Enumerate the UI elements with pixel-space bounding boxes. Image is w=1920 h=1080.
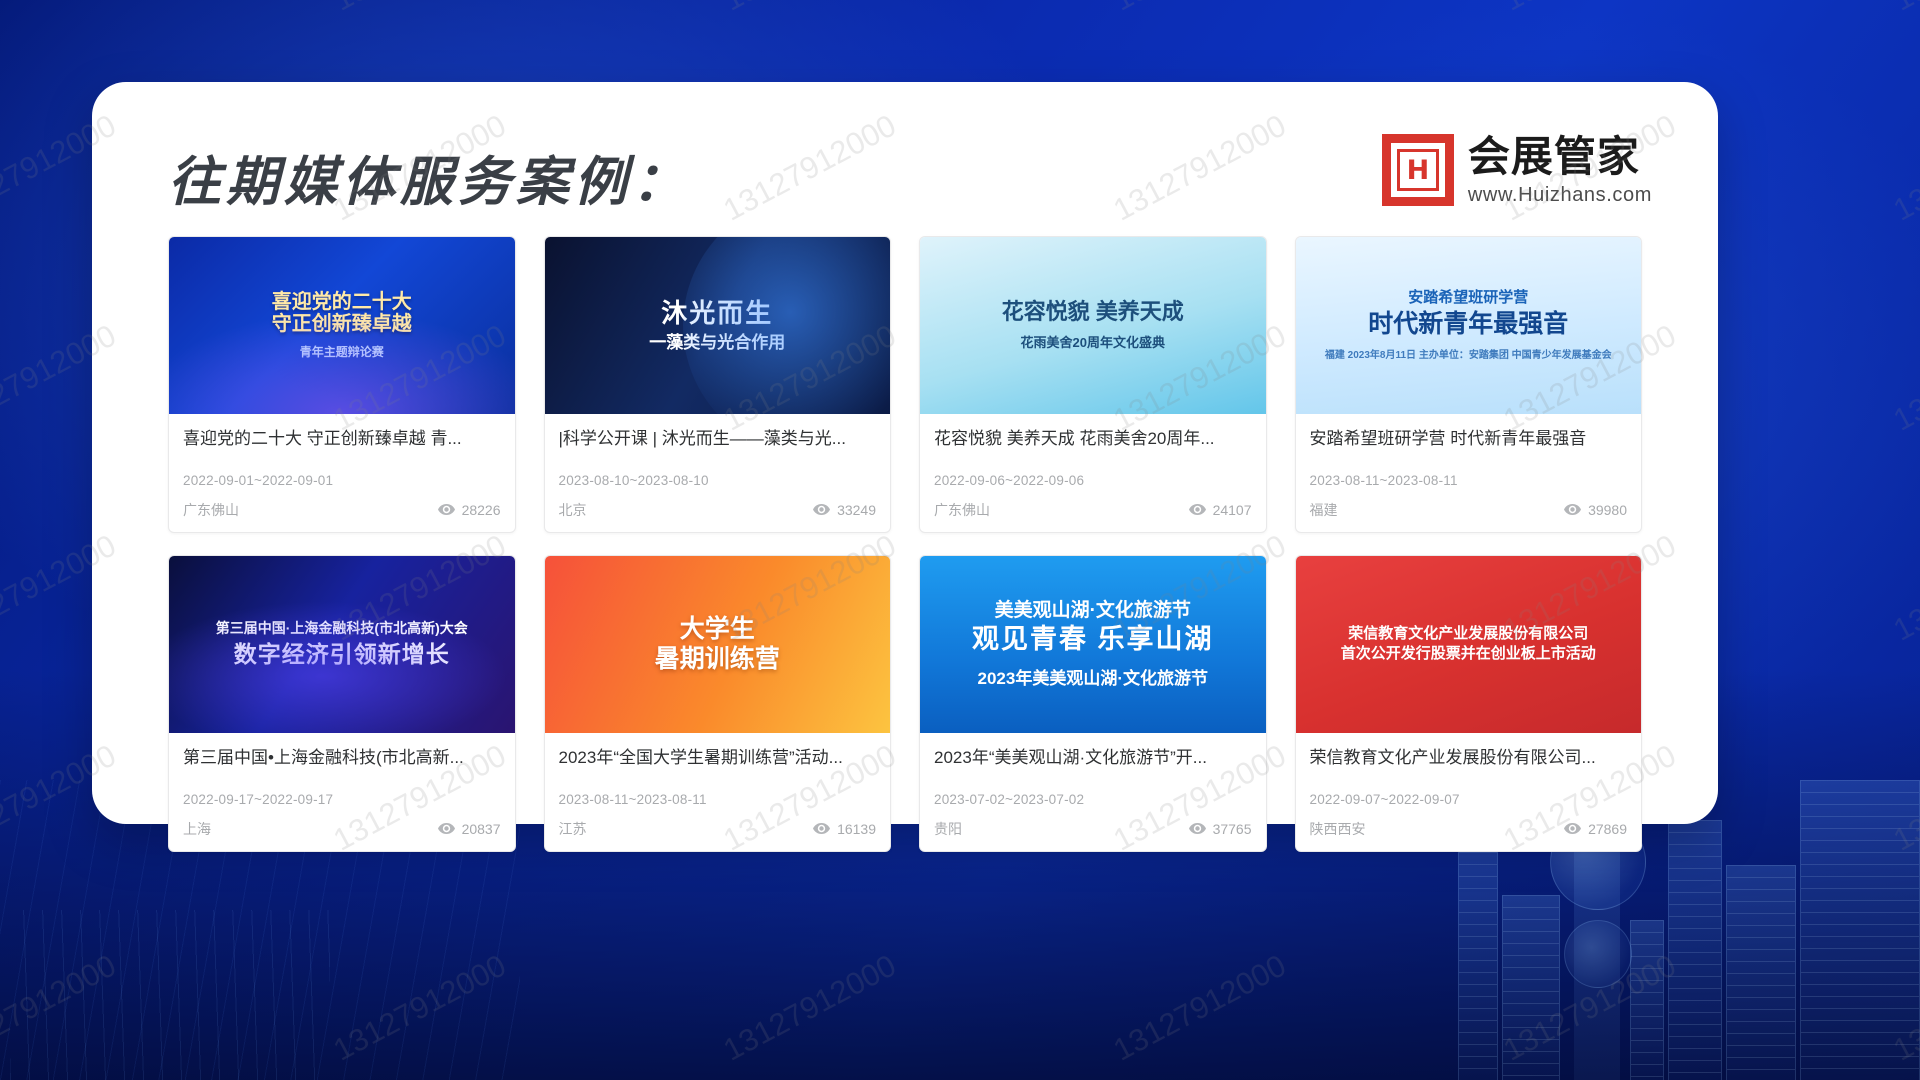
card-date-range: 2023-07-02~2023-07-02 — [934, 792, 1252, 807]
card-views: 37765 — [1189, 821, 1252, 837]
eye-icon — [1564, 504, 1581, 515]
card-footer: 上海 20837 — [183, 819, 501, 839]
card-date-range: 2023-08-10~2023-08-10 — [559, 473, 877, 488]
card-views-count: 16139 — [837, 821, 876, 837]
card-footer: 北京 33249 — [559, 500, 877, 520]
card-title[interactable]: |科学公开课 | 沐光而生——藻类与光... — [559, 428, 877, 451]
card-footer: 福建 39980 — [1310, 500, 1628, 520]
thumbnail-line2: 首次公开发行股票并在创业板上市活动 — [1341, 646, 1596, 663]
card-body: 第三届中国•上海金融科技(市北高新... 2022-09-17~2022-09-… — [169, 733, 515, 851]
eye-icon — [1564, 823, 1581, 834]
page-title: 往期媒体服务案例： — [168, 140, 690, 216]
card-views-count: 27869 — [1588, 821, 1627, 837]
thumbnail-subtitle: 福建 2023年8月11日 主办单位：安踏集团 中国青少年发展基金会 — [1325, 346, 1612, 361]
card-title[interactable]: 2023年“全国大学生暑期训练营”活动... — [559, 747, 877, 770]
card-footer: 广东佛山 28226 — [183, 500, 501, 520]
eye-icon — [438, 504, 455, 515]
thumbnail-subtitle: 青年主题辩论赛 — [300, 343, 384, 360]
card-title[interactable]: 2023年“美美观山湖·文化旅游节”开... — [934, 747, 1252, 770]
case-card[interactable]: 美美观山湖·文化旅游节 观见青春 乐享山湖 2023年美美观山湖·文化旅游节 2… — [919, 555, 1267, 852]
card-location: 贵阳 — [934, 819, 962, 839]
card-location: 广东佛山 — [183, 500, 239, 520]
card-location: 江苏 — [559, 819, 587, 839]
logo-text-block: 会展管家 www.Huizhans.com — [1468, 136, 1652, 205]
thumbnail-line2: 时代新青年最强音 — [1368, 310, 1568, 338]
card-views-count: 33249 — [837, 502, 876, 518]
card-body: 喜迎党的二十大 守正创新臻卓越 青... 2022-09-01~2022-09-… — [169, 414, 515, 532]
card-views-count: 39980 — [1588, 502, 1627, 518]
card-date-range: 2022-09-17~2022-09-17 — [183, 792, 501, 807]
brand-logo: H 会展管家 www.Huizhans.com — [1382, 134, 1652, 206]
card-thumbnail[interactable]: 安踏希望班研学营 时代新青年最强音 福建 2023年8月11日 主办单位：安踏集… — [1296, 237, 1642, 414]
case-card[interactable]: 荣信教育文化产业发展股份有限公司 首次公开发行股票并在创业板上市活动 荣信教育文… — [1295, 555, 1643, 852]
card-body: 花容悦貌 美养天成 花雨美舍20周年... 2022-09-06~2022-09… — [920, 414, 1266, 532]
thumbnail-line2: 守正创新臻卓越 — [272, 313, 412, 335]
thumbnail-line2: 观见青春 乐享山湖 — [972, 624, 1214, 654]
card-thumbnail[interactable]: 大学生 暑期训练营 — [545, 556, 891, 733]
card-views: 24107 — [1189, 502, 1252, 518]
card-views: 16139 — [813, 821, 876, 837]
card-date-range: 2022-09-07~2022-09-07 — [1310, 792, 1628, 807]
eye-icon — [813, 504, 830, 515]
card-location: 陕西西安 — [1310, 819, 1366, 839]
card-location: 北京 — [559, 500, 587, 520]
thumbnail-line1: 荣信教育文化产业发展股份有限公司 — [1348, 626, 1588, 643]
card-date-range: 2022-09-06~2022-09-06 — [934, 473, 1252, 488]
thumbnail-line1: 花容悦貌 美养天成 — [1002, 300, 1184, 325]
thumbnail-line1: 安踏希望班研学营 — [1408, 290, 1528, 307]
card-title[interactable]: 第三届中国•上海金融科技(市北高新... — [183, 747, 501, 770]
eye-icon — [438, 823, 455, 834]
card-title[interactable]: 安踏希望班研学营 时代新青年最强音 — [1310, 428, 1628, 451]
card-views-count: 37765 — [1213, 821, 1252, 837]
logo-brand-name: 会展管家 — [1468, 136, 1652, 178]
card-footer: 贵阳 37765 — [934, 819, 1252, 839]
thumbnail-line2: 暑期训练营 — [655, 645, 780, 673]
case-card[interactable]: 沐光而生 一藻类与光合作用 |科学公开课 | 沐光而生——藻类与光... 202… — [544, 236, 892, 533]
card-views-count: 24107 — [1213, 502, 1252, 518]
card-views-count: 20837 — [462, 821, 501, 837]
card-location: 广东佛山 — [934, 500, 990, 520]
building-silhouette — [1668, 820, 1722, 1080]
card-footer: 广东佛山 24107 — [934, 500, 1252, 520]
thumbnail-line1: 美美观山湖·文化旅游节 — [995, 600, 1191, 621]
card-title[interactable]: 荣信教育文化产业发展股份有限公司... — [1310, 747, 1628, 770]
card-thumbnail[interactable]: 美美观山湖·文化旅游节 观见青春 乐享山湖 2023年美美观山湖·文化旅游节 — [920, 556, 1266, 733]
thumbnail-line1: 喜迎党的二十大 — [272, 291, 412, 313]
logo-website-url: www.Huizhans.com — [1468, 185, 1652, 205]
thumbnail-line2: 数字经济引领新增长 — [234, 642, 450, 668]
card-views: 33249 — [813, 502, 876, 518]
case-card[interactable]: 喜迎党的二十大 守正创新臻卓越 青年主题辩论赛 喜迎党的二十大 守正创新臻卓越 … — [168, 236, 516, 533]
thumbnail-line1: 第三届中国·上海金融科技(市北高新)大会 — [216, 621, 468, 637]
eye-icon — [1189, 504, 1206, 515]
card-views: 20837 — [438, 821, 501, 837]
case-card[interactable]: 第三届中国·上海金融科技(市北高新)大会 数字经济引领新增长 第三届中国•上海金… — [168, 555, 516, 852]
panel-header: 往期媒体服务案例： H 会展管家 www.Huizhans.com — [132, 122, 1678, 232]
content-panel: 往期媒体服务案例： H 会展管家 www.Huizhans.com 喜迎党的二十… — [92, 82, 1718, 824]
building-silhouette — [1800, 780, 1920, 1080]
logo-mark-icon: H — [1382, 134, 1454, 206]
card-views: 28226 — [438, 502, 501, 518]
card-thumbnail[interactable]: 第三届中国·上海金融科技(市北高新)大会 数字经济引领新增长 — [169, 556, 515, 733]
card-body: 荣信教育文化产业发展股份有限公司... 2022-09-07~2022-09-0… — [1296, 733, 1642, 851]
card-date-range: 2022-09-01~2022-09-01 — [183, 473, 501, 488]
eye-icon — [813, 823, 830, 834]
thumbnail-line1: 沐光而生 — [661, 299, 773, 328]
card-location: 福建 — [1310, 500, 1338, 520]
card-body: 安踏希望班研学营 时代新青年最强音 2023-08-11~2023-08-11 … — [1296, 414, 1642, 532]
building-silhouette — [1630, 920, 1664, 1080]
card-footer: 江苏 16139 — [559, 819, 877, 839]
thumbnail-subtitle: 花雨美舍20周年文化盛典 — [1021, 332, 1165, 351]
case-card[interactable]: 花容悦貌 美养天成 花雨美舍20周年文化盛典 花容悦貌 美养天成 花雨美舍20周… — [919, 236, 1267, 533]
thumbnail-line1: 大学生 — [680, 615, 755, 643]
logo-letter: H — [1407, 157, 1430, 184]
card-date-range: 2023-08-11~2023-08-11 — [1310, 473, 1628, 488]
card-thumbnail[interactable]: 沐光而生 一藻类与光合作用 — [545, 237, 891, 414]
building-silhouette — [1458, 840, 1498, 1080]
case-card[interactable]: 安踏希望班研学营 时代新青年最强音 福建 2023年8月11日 主办单位：安踏集… — [1295, 236, 1643, 533]
card-thumbnail[interactable]: 荣信教育文化产业发展股份有限公司 首次公开发行股票并在创业板上市活动 — [1296, 556, 1642, 733]
card-title[interactable]: 花容悦貌 美养天成 花雨美舍20周年... — [934, 428, 1252, 451]
card-footer: 陕西西安 27869 — [1310, 819, 1628, 839]
card-thumbnail[interactable]: 花容悦貌 美养天成 花雨美舍20周年文化盛典 — [920, 237, 1266, 414]
eye-icon — [1189, 823, 1206, 834]
card-body: |科学公开课 | 沐光而生——藻类与光... 2023-08-10~2023-0… — [545, 414, 891, 532]
thumbnail-line2: 一藻类与光合作用 — [649, 333, 785, 352]
card-views: 27869 — [1564, 821, 1627, 837]
case-card-grid: 喜迎党的二十大 守正创新臻卓越 青年主题辩论赛 喜迎党的二十大 守正创新臻卓越 … — [132, 236, 1678, 852]
card-body: 2023年“全国大学生暑期训练营”活动... 2023-08-11~2023-0… — [545, 733, 891, 851]
building-silhouette — [1726, 865, 1796, 1080]
card-views-count: 28226 — [462, 502, 501, 518]
case-card[interactable]: 大学生 暑期训练营 2023年“全国大学生暑期训练营”活动... 2023-08… — [544, 555, 892, 852]
card-thumbnail[interactable]: 喜迎党的二十大 守正创新臻卓越 青年主题辩论赛 — [169, 237, 515, 414]
card-date-range: 2023-08-11~2023-08-11 — [559, 792, 877, 807]
card-body: 2023年“美美观山湖·文化旅游节”开... 2023-07-02~2023-0… — [920, 733, 1266, 851]
card-title[interactable]: 喜迎党的二十大 守正创新臻卓越 青... — [183, 428, 501, 451]
thumbnail-subtitle: 2023年美美观山湖·文化旅游节 — [978, 664, 1208, 689]
building-silhouette — [1502, 895, 1560, 1080]
card-views: 39980 — [1564, 502, 1627, 518]
card-location: 上海 — [183, 819, 211, 839]
